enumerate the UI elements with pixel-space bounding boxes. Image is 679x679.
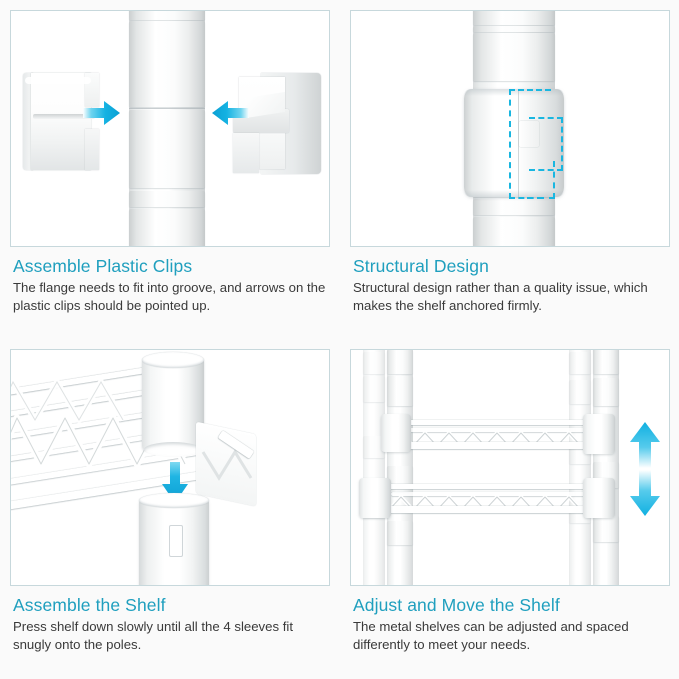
shelf-lower-sleeve-right [583, 478, 615, 518]
clip-slot [169, 525, 183, 557]
shelf-upper [387, 420, 597, 448]
pole-front-right [593, 349, 619, 586]
shelf-upper-sleeve-right [583, 414, 615, 454]
pole-rear-right [569, 349, 591, 586]
caption-assemble-the-shelf: Assemble the Shelf Press shelf down slow… [10, 586, 330, 654]
pole-graphic [129, 10, 205, 247]
step-heading: Structural Design [353, 256, 670, 277]
pole-top-rim [139, 493, 209, 508]
pole-rear-left [363, 349, 385, 586]
shelf-lower-sleeve-left [359, 478, 391, 518]
figure-adjust-and-move-the-shelf [350, 349, 670, 586]
caption-structural-design: Structural Design Structural design rath… [350, 247, 670, 315]
figure-assemble-plastic-clips [10, 10, 330, 247]
instruction-sheet: Assemble Plastic Clips The flange needs … [0, 0, 679, 679]
step-body: The flange needs to fit into groove, and… [13, 279, 329, 315]
step-body: Structural design rather than a quality … [353, 279, 669, 315]
dashed-highlight-icon-4 [527, 161, 555, 199]
step-heading: Adjust and Move the Shelf [353, 595, 670, 616]
step-structural-design: Structural Design Structural design rath… [350, 10, 670, 315]
shelf-lower [387, 484, 597, 512]
step-assemble-plastic-clips: Assemble Plastic Clips The flange needs … [10, 10, 330, 315]
step-adjust-and-move-the-shelf: Adjust and Move the Shelf The metal shel… [350, 349, 670, 654]
arrow-right-icon [83, 100, 121, 126]
plastic-clip-right [239, 73, 321, 174]
caption-adjust-and-move-the-shelf: Adjust and Move the Shelf The metal shel… [350, 586, 670, 654]
step-heading: Assemble the Shelf [13, 595, 330, 616]
caption-assemble-plastic-clips: Assemble Plastic Clips The flange needs … [10, 247, 330, 315]
step-body: The metal shelves can be adjusted and sp… [353, 618, 669, 654]
arrow-up-down-icon [629, 422, 661, 516]
corner-sleeve-bottom [144, 442, 202, 457]
pole-front-left [387, 349, 413, 586]
step-assemble-the-shelf: Assemble the Shelf Press shelf down slow… [10, 349, 330, 654]
arrow-left-icon [211, 100, 249, 126]
figure-assemble-the-shelf [10, 349, 330, 586]
step-body: Press shelf down slowly until all the 4 … [13, 618, 329, 654]
step-heading: Assemble Plastic Clips [13, 256, 330, 277]
shelf-upper-sleeve-left [381, 414, 411, 452]
corner-sleeve [142, 358, 204, 450]
corner-sleeve-top [142, 352, 204, 368]
figure-structural-design [350, 10, 670, 247]
